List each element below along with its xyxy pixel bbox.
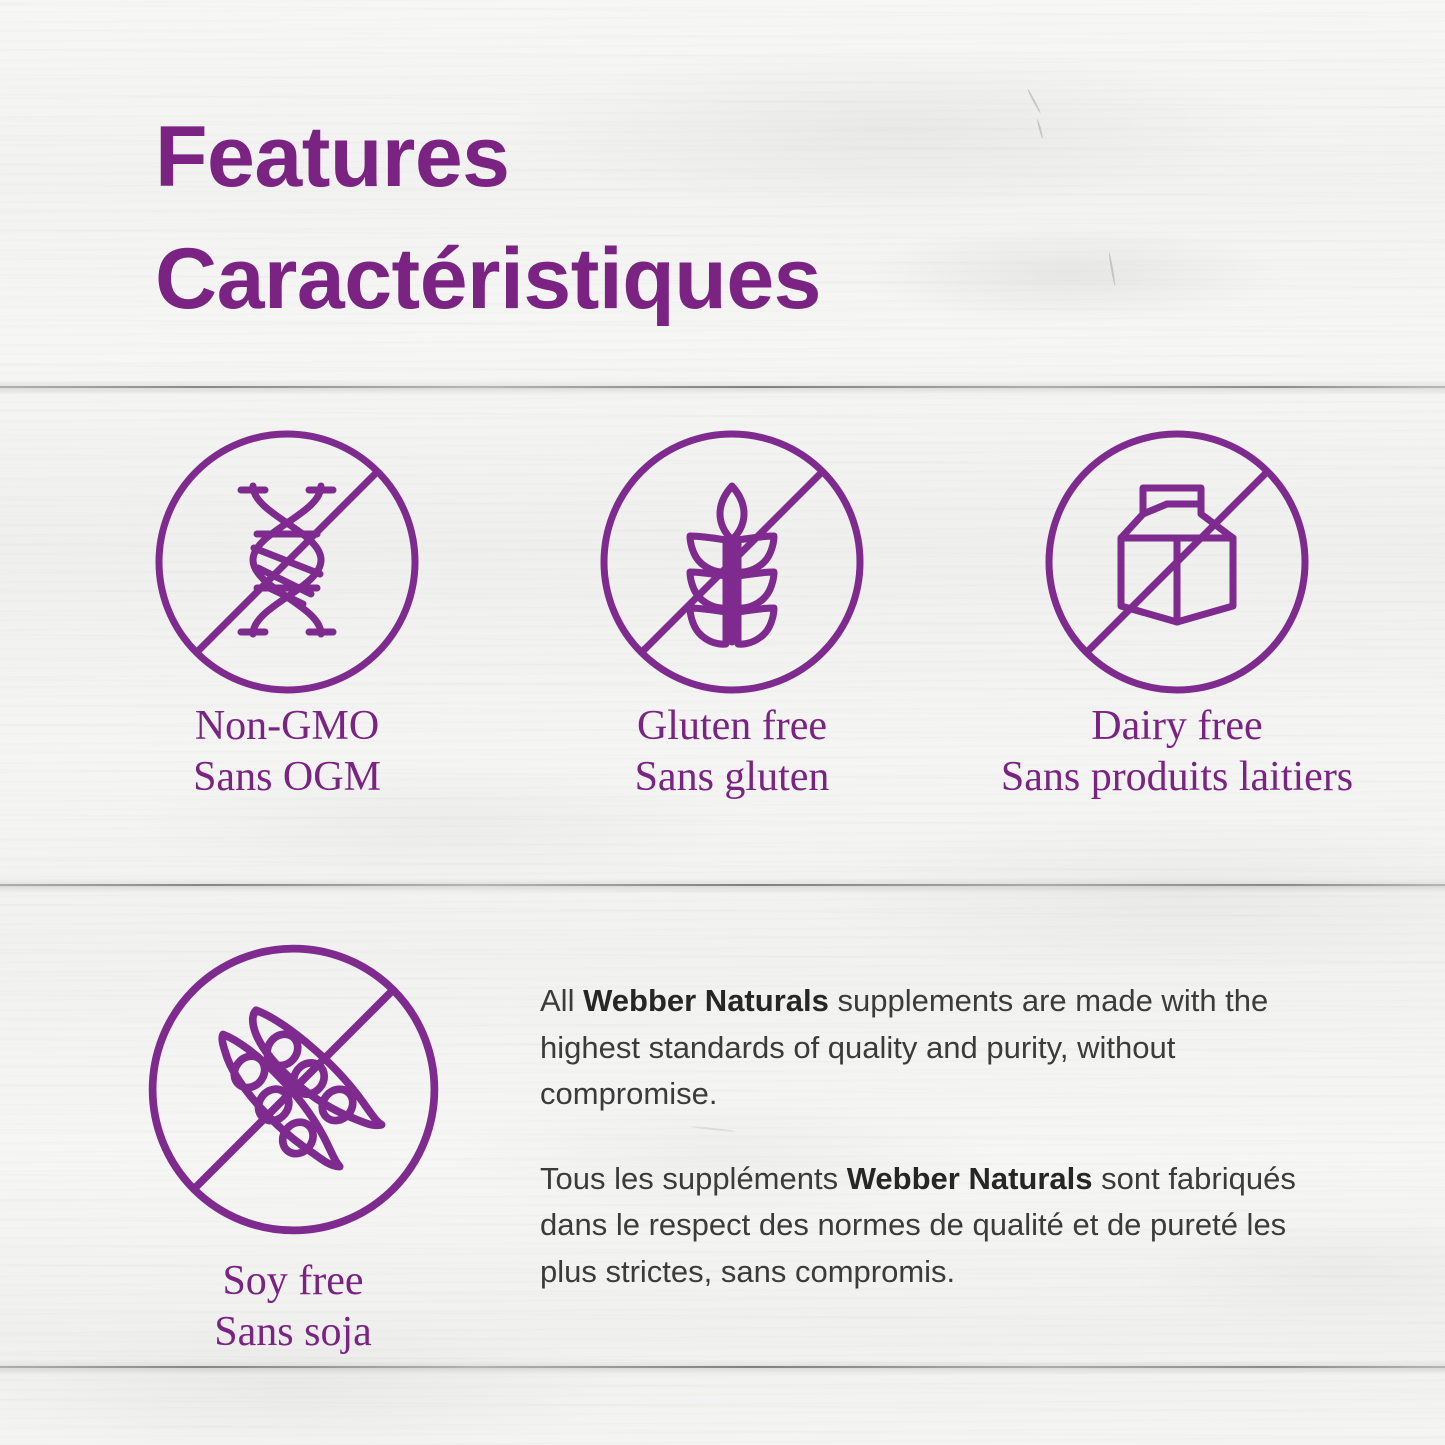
feature-dairy-free-label-en: Dairy free bbox=[1091, 703, 1262, 749]
feature-soy-free: Soy free Sans soja bbox=[88, 942, 498, 1358]
no-soy-bean-pod-icon bbox=[88, 942, 498, 1242]
no-dairy-milk-carton-icon bbox=[972, 428, 1382, 701]
no-gmo-dna-icon bbox=[82, 428, 492, 701]
feature-infographic: Features Caractéristiques bbox=[0, 0, 1445, 1445]
feature-dairy-free-caption: Dairy free Sans produits laitiers bbox=[972, 701, 1382, 803]
feature-gluten-free-label-fr: Sans gluten bbox=[527, 752, 937, 803]
brand-statement: All Webber Naturals supplements are made… bbox=[540, 978, 1315, 1295]
page-title-fr: Caractéristiques bbox=[155, 218, 821, 340]
page-title: Features Caractéristiques bbox=[155, 96, 821, 340]
statement-fr-prefix: Tous les suppléments bbox=[540, 1161, 847, 1196]
feature-soy-free-label-fr: Sans soja bbox=[88, 1307, 498, 1358]
no-gluten-wheat-icon bbox=[527, 428, 937, 701]
feature-soy-free-label-en: Soy free bbox=[222, 1258, 363, 1304]
feature-non-gmo-caption: Non-GMO Sans OGM bbox=[82, 701, 492, 803]
feature-non-gmo-label-en: Non-GMO bbox=[195, 703, 379, 749]
feature-dairy-free: Dairy free Sans produits laitiers bbox=[972, 428, 1382, 803]
feature-soy-free-caption: Soy free Sans soja bbox=[88, 1256, 498, 1358]
brand-statement-fr: Tous les suppléments Webber Naturals son… bbox=[540, 1156, 1315, 1296]
brand-statement-en: All Webber Naturals supplements are made… bbox=[540, 978, 1315, 1118]
feature-non-gmo: Non-GMO Sans OGM bbox=[82, 428, 492, 803]
page-title-en: Features bbox=[155, 109, 510, 205]
statement-en-prefix: All bbox=[540, 983, 583, 1018]
feature-gluten-free: Gluten free Sans gluten bbox=[527, 428, 937, 803]
feature-gluten-free-label-en: Gluten free bbox=[637, 703, 827, 749]
brand-name-en: Webber Naturals bbox=[583, 983, 829, 1018]
brand-name-fr: Webber Naturals bbox=[847, 1161, 1093, 1196]
feature-gluten-free-caption: Gluten free Sans gluten bbox=[527, 701, 937, 803]
feature-dairy-free-label-fr: Sans produits laitiers bbox=[972, 752, 1382, 803]
feature-non-gmo-label-fr: Sans OGM bbox=[82, 752, 492, 803]
